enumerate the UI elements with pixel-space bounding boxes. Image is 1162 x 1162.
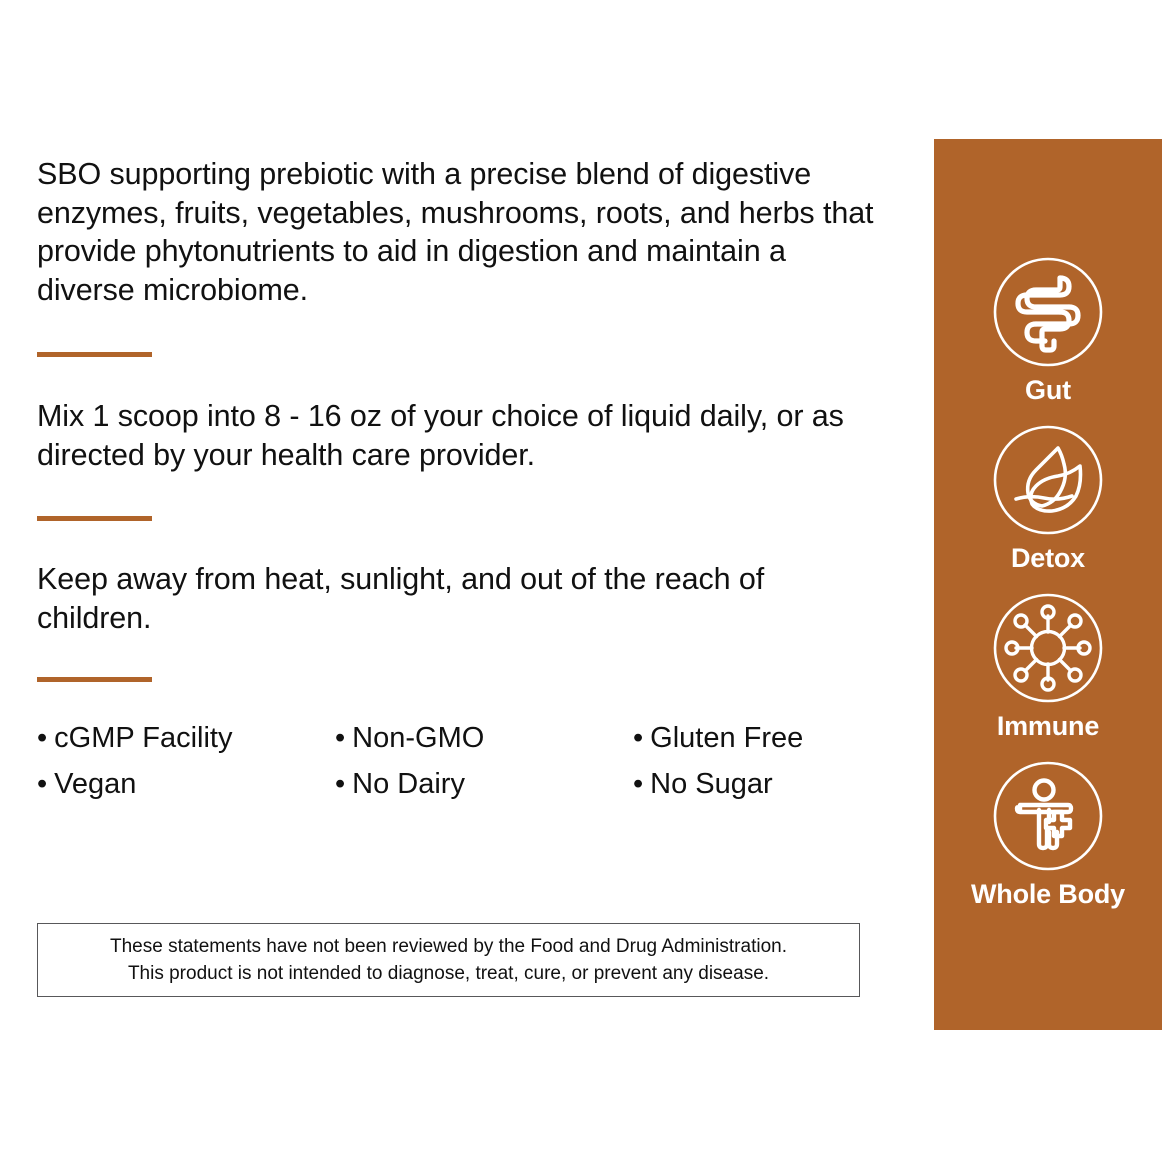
benefit-label: Detox <box>934 542 1162 574</box>
feature-label: No Dairy <box>352 768 465 800</box>
feature-item: •Non-GMO <box>335 720 633 757</box>
fda-disclaimer-box: These statements have not been reviewed … <box>37 923 860 997</box>
feature-label: cGMP Facility <box>54 722 232 754</box>
feature-label: No Sugar <box>650 768 773 800</box>
feature-label: Gluten Free <box>650 722 803 754</box>
section-divider <box>37 352 152 357</box>
benefit-whole-body: Whole Body <box>934 760 1162 910</box>
storage-warning-text: Keep away from heat, sunlight, and out o… <box>37 560 877 637</box>
leaf-icon <box>992 424 1104 536</box>
body-cross-icon <box>992 760 1104 872</box>
benefit-detox: Detox <box>934 424 1162 574</box>
feature-item: •cGMP Facility <box>37 720 335 757</box>
disclaimer-line-1: These statements have not been reviewed … <box>110 933 787 960</box>
benefit-label: Immune <box>934 710 1162 742</box>
bullet-icon: • <box>633 766 643 803</box>
benefits-sidebar: Gut Detox <box>934 139 1162 1030</box>
benefit-label: Gut <box>934 374 1162 406</box>
feature-badge-list: •cGMP Facility •Non-GMO •Gluten Free •Ve… <box>37 720 877 803</box>
benefit-gut: Gut <box>934 256 1162 406</box>
feature-item: •Gluten Free <box>633 720 877 757</box>
intestine-icon <box>992 256 1104 368</box>
bullet-icon: • <box>37 766 47 803</box>
benefit-immune: Immune <box>934 592 1162 742</box>
feature-item: •No Dairy <box>335 766 633 803</box>
directions-text: Mix 1 scoop into 8 - 16 oz of your choic… <box>37 397 877 474</box>
product-description: SBO supporting prebiotic with a precise … <box>37 155 877 309</box>
benefit-label: Whole Body <box>934 878 1162 910</box>
feature-item: •Vegan <box>37 766 335 803</box>
bullet-icon: • <box>335 766 345 803</box>
label-content: SBO supporting prebiotic with a precise … <box>37 155 877 803</box>
feature-item: •No Sugar <box>633 766 877 803</box>
feature-label: Non-GMO <box>352 722 484 754</box>
feature-label: Vegan <box>54 768 136 800</box>
bullet-icon: • <box>335 720 345 757</box>
virus-cell-icon <box>992 592 1104 704</box>
bullet-icon: • <box>633 720 643 757</box>
bullet-icon: • <box>37 720 47 757</box>
disclaimer-line-2: This product is not intended to diagnose… <box>128 960 769 987</box>
section-divider <box>37 677 152 682</box>
section-divider <box>37 516 152 521</box>
